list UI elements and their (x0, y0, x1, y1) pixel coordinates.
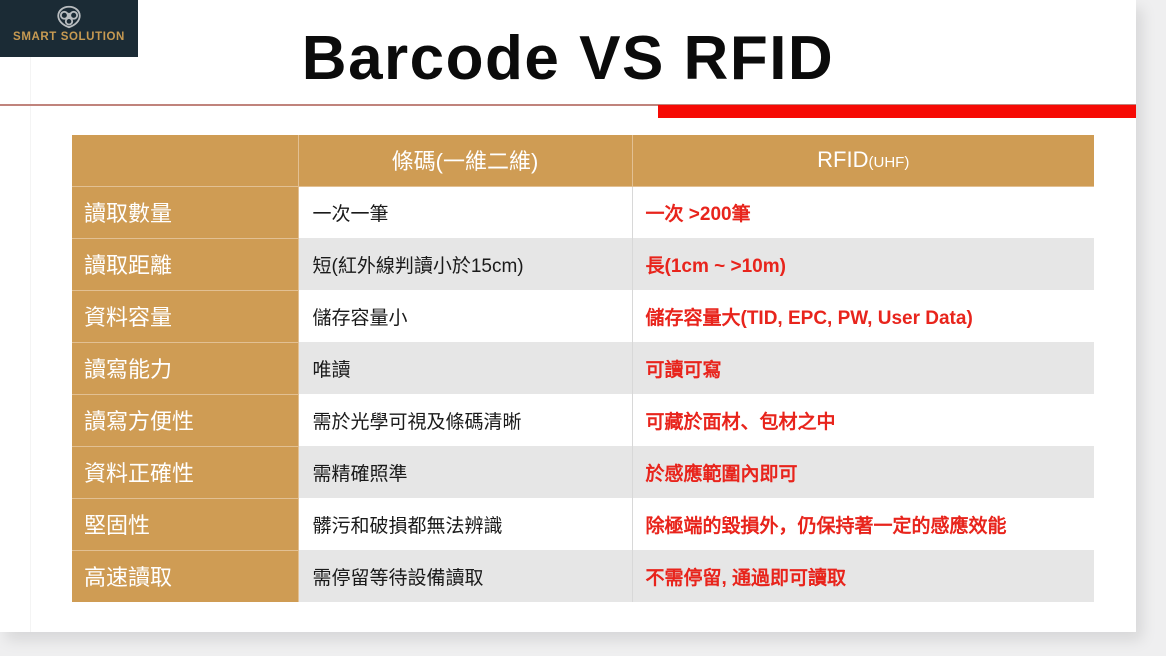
row-label: 讀寫能力 (72, 342, 298, 394)
table-row: 高速讀取 需停留等待設備讀取 不需停留, 通過即可讀取 (72, 550, 1094, 602)
header-cell-barcode: 條碼(一維二維) (298, 135, 632, 186)
row-barcode-value: 需停留等待設備讀取 (298, 550, 632, 602)
table-row: 資料正確性 需精確照準 於感應範圍內即可 (72, 446, 1094, 498)
row-barcode-value: 儲存容量小 (298, 290, 632, 342)
row-rfid-value: 儲存容量大(TID, EPC, PW, User Data) (632, 290, 1094, 342)
row-rfid-value: 可藏於面材、包材之中 (632, 394, 1094, 446)
row-rfid-value: 不需停留, 通過即可讀取 (632, 550, 1094, 602)
table-row: 讀取距離 短(紅外線判讀小於15cm) 長(1cm ~ >10m) (72, 238, 1094, 290)
title-underline-red-bar (658, 105, 1136, 118)
row-rfid-value: 除極端的毀損外，仍保持著一定的感應效能 (632, 498, 1094, 550)
row-label: 讀寫方便性 (72, 394, 298, 446)
row-barcode-value: 一次一筆 (298, 186, 632, 238)
comparison-table: 條碼(一維二維) RFID(UHF) 讀取數量 一次一筆 一次 >200筆 讀取… (72, 135, 1094, 602)
brand-name: SMART SOLUTION (13, 31, 125, 43)
table-header-row: 條碼(一維二維) RFID(UHF) (72, 135, 1094, 186)
row-barcode-value: 需於光學可視及條碼清晰 (298, 394, 632, 446)
row-rfid-value: 於感應範圍內即可 (632, 446, 1094, 498)
row-barcode-value: 短(紅外線判讀小於15cm) (298, 238, 632, 290)
row-label: 資料容量 (72, 290, 298, 342)
table-row: 讀寫能力 唯讀 可讀可寫 (72, 342, 1094, 394)
table-row: 讀寫方便性 需於光學可視及條碼清晰 可藏於面材、包材之中 (72, 394, 1094, 446)
header-barcode-label: 條碼(一維二維) (392, 149, 539, 174)
row-rfid-value: 長(1cm ~ >10m) (632, 238, 1094, 290)
row-rfid-value: 一次 >200筆 (632, 186, 1094, 238)
row-rfid-value: 可讀可寫 (632, 342, 1094, 394)
row-label: 資料正確性 (72, 446, 298, 498)
header-cell-rfid: RFID(UHF) (632, 135, 1094, 186)
table-row: 讀取數量 一次一筆 一次 >200筆 (72, 186, 1094, 238)
table-row: 資料容量 儲存容量小 儲存容量大(TID, EPC, PW, User Data… (72, 290, 1094, 342)
row-label: 堅固性 (72, 498, 298, 550)
row-barcode-value: 需精確照準 (298, 446, 632, 498)
row-barcode-value: 唯讀 (298, 342, 632, 394)
row-barcode-value: 髒污和破損都無法辨識 (298, 498, 632, 550)
row-label: 高速讀取 (72, 550, 298, 602)
brand-badge: SMART SOLUTION (0, 0, 138, 57)
slide-canvas: SMART SOLUTION Barcode VS RFID 條碼(一維二維) … (0, 0, 1136, 632)
table-row: 堅固性 髒污和破損都無法辨識 除極端的毀損外，仍保持著一定的感應效能 (72, 498, 1094, 550)
header-rfid-label: RFID (817, 147, 868, 172)
header-cell-blank (72, 135, 298, 186)
page-guide-line (30, 0, 31, 632)
row-label: 讀取距離 (72, 238, 298, 290)
trefoil-shield-logo-icon (54, 4, 84, 30)
row-label: 讀取數量 (72, 186, 298, 238)
header-rfid-sub: (UHF) (869, 154, 910, 171)
page-title: Barcode VS RFID (0, 28, 1136, 90)
